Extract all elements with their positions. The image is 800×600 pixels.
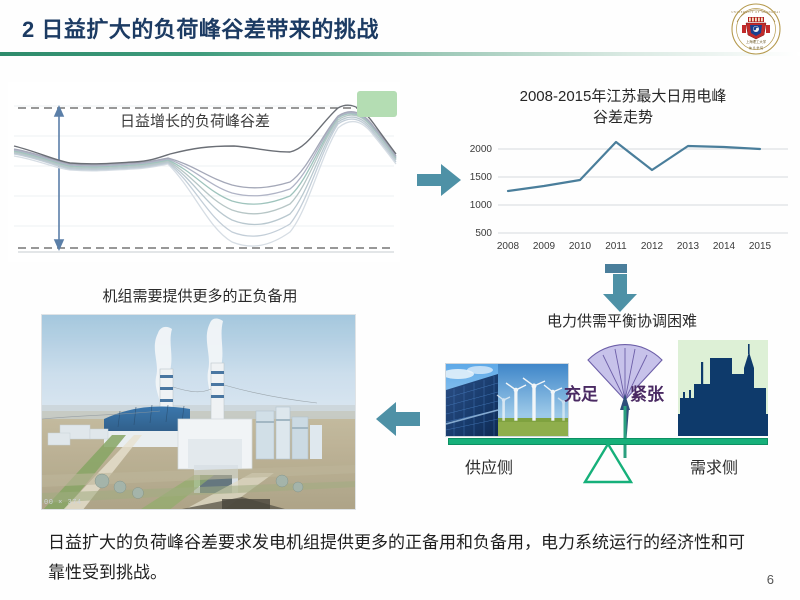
year-chart-title-line2: 谷差走势 bbox=[452, 107, 794, 128]
load-curve-chart: 日益增长的负荷峰谷差 bbox=[8, 82, 400, 262]
svg-text:2014: 2014 bbox=[713, 241, 736, 252]
arrow-down-icon bbox=[600, 272, 640, 314]
plant-caption: 机组需要提供更多的正负备用 bbox=[30, 285, 370, 306]
title-divider bbox=[0, 52, 800, 56]
y-tick-labels: 2000 1500 1000 500 bbox=[470, 144, 493, 239]
page-title: 2 日益扩大的负荷峰谷差带来的挑战 bbox=[22, 12, 379, 44]
page-number: 6 bbox=[767, 572, 774, 587]
peak-valley-span-arrow bbox=[55, 107, 63, 249]
year-chart-title-line1: 2008-2015年江苏最大日用电峰 bbox=[520, 88, 727, 105]
supply-side-label: 供应侧 bbox=[465, 454, 513, 478]
svg-text:2011: 2011 bbox=[605, 241, 627, 252]
svg-text:2015: 2015 bbox=[749, 241, 772, 252]
gauge-right-word: 紧张 bbox=[630, 380, 664, 405]
svg-text:上海理工大学: 上海理工大学 bbox=[746, 39, 767, 44]
load-chart-annotation: 日益增长的负荷峰谷差 bbox=[120, 110, 270, 131]
svg-text:2009: 2009 bbox=[533, 241, 556, 252]
demand-side-label: 需求侧 bbox=[690, 454, 738, 478]
slide-header: 2 日益扩大的负荷峰谷差带来的挑战 UNIVERSITY OF SHANGHAI bbox=[0, 0, 800, 58]
x-tick-labels: 2008 2009 2010 2011 2012 2013 2014 2015 bbox=[497, 241, 772, 252]
supply-demand-balance-diagram: 充足 紧张 供应侧 需求侧 bbox=[440, 338, 800, 498]
balance-caption: 电力供需平衡协调困难 bbox=[452, 310, 792, 331]
svg-text:UNIVERSITY OF SHANGHAI: UNIVERSITY OF SHANGHAI bbox=[731, 11, 780, 14]
image-resolution-tag: 00 × 374 bbox=[44, 499, 82, 507]
solar-and-wind-photo bbox=[445, 363, 569, 437]
svg-text:信 息 学 院: 信 息 学 院 bbox=[749, 45, 763, 50]
load-curve-svg bbox=[8, 82, 400, 262]
svg-text:2008: 2008 bbox=[497, 241, 520, 252]
svg-text:1000: 1000 bbox=[470, 200, 493, 211]
svg-text:2013: 2013 bbox=[677, 241, 700, 252]
svg-text:1500: 1500 bbox=[470, 172, 493, 183]
arrow-left-icon bbox=[374, 398, 422, 440]
coal-power-plant-photo: 00 × 374 bbox=[41, 314, 356, 510]
summary-paragraph: 日益扩大的负荷峰谷差要求发电机组提供更多的正备用和负备用，电力系统运行的经济性和… bbox=[48, 528, 748, 588]
gauge-left-word: 充足 bbox=[564, 380, 598, 405]
university-seal-logo: UNIVERSITY OF SHANGHAI 上海理工大学 信 息 bbox=[728, 2, 784, 56]
slide-root: 2 日益扩大的负荷峰谷差带来的挑战 UNIVERSITY OF SHANGHAI bbox=[0, 0, 800, 600]
year-trend-chart: 2008-2015年江苏最大日用电峰 谷差走势 2000 1500 1000 5… bbox=[452, 84, 794, 268]
green-highlight-chip bbox=[357, 91, 397, 117]
svg-text:2000: 2000 bbox=[470, 144, 493, 155]
svg-text:2012: 2012 bbox=[641, 241, 664, 252]
year-chart-title: 2008-2015年江苏最大日用电峰 谷差走势 bbox=[452, 84, 794, 128]
y-gridlines bbox=[498, 149, 788, 233]
balance-fulcrum-icon bbox=[583, 442, 633, 484]
year-chart-plot: 2000 1500 1000 500 2008 2009 bbox=[452, 133, 794, 253]
year-chart-svg: 2000 1500 1000 500 2008 2009 bbox=[452, 133, 794, 253]
svg-text:500: 500 bbox=[475, 228, 492, 239]
svg-text:2010: 2010 bbox=[569, 241, 592, 252]
city-skyline-graphic bbox=[678, 340, 768, 436]
